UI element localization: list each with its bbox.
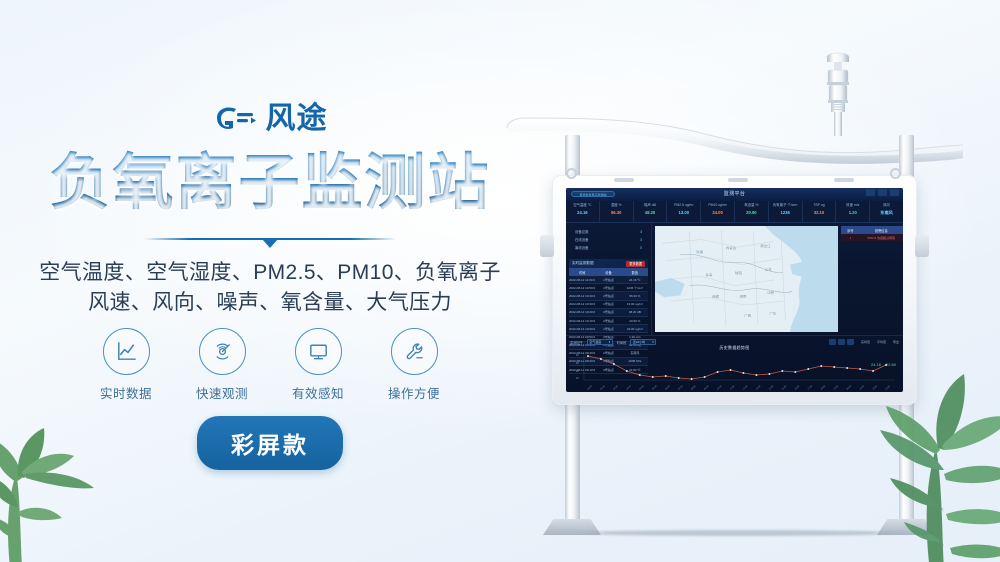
metric-value: 56.30 [600,210,633,215]
g-arrow-logo-icon [213,104,257,134]
svg-text:广西: 广西 [744,313,751,318]
metric-label: 氧含量 % [735,203,768,207]
stat-value: 0 [640,246,642,250]
cell-device: 2号站点 [595,294,621,298]
data-table-header: 实时监测数据 更多数据 [569,259,648,268]
metric-card[interactable]: PM10 ug/m³ 24.00 [701,201,735,222]
cell-time: 2022-08-12 10:30:00 [569,302,595,306]
divider-triangle-icon [262,239,278,248]
svg-text:山东: 山东 [765,267,772,272]
chevron-down-icon: ▾ [652,340,654,344]
svg-text:09:00: 09:00 [704,385,710,391]
dashboard-body: 设备总数 3 在线设备 3 离线设备 0 [566,223,903,335]
metric-label: PM10 ug/m³ [701,203,734,207]
metric-value: 1.20 [836,210,869,215]
page-title: 负氧离子监测站 [0,150,540,214]
column-header: 时间 [569,270,595,275]
foliage-left [0,378,160,562]
cell-device: 1号站点 [595,327,621,331]
metric-card[interactable]: PM2.5 ug/m³ 13.00 [667,201,701,222]
period-filter-label: 时间段 [617,340,627,345]
brand-name: 风途 [266,104,328,134]
china-map-panel[interactable]: 新疆 内蒙古 黑龙江 青海 陕西 山东 西藏 湖南 江西 广西 广东 [655,226,838,332]
alarm-row[interactable]: 1 PM2.5 浓度超过阈值 [841,234,903,241]
svg-text:04:00: 04:00 [639,385,645,391]
svg-text:内蒙古: 内蒙古 [726,245,736,250]
svg-text:03:00: 03:00 [626,385,632,391]
svg-text:00:00: 00:00 [587,385,593,391]
svg-text:11:00: 11:00 [730,385,736,391]
cell-value: 24.16 ℃ [622,278,648,282]
vent-tab [834,178,854,182]
feature-label: 有效感知 [287,383,349,402]
metric-value: 20.90 [735,210,768,215]
column-header: 报警信息 [860,228,903,233]
vent-tab [728,178,748,182]
metric-card[interactable]: 湿度 % 56.30 [600,201,634,222]
cell-time: 2022-08-12 10:20:00 [569,310,595,314]
stat-value: 3 [640,230,642,234]
wrench-icon [391,328,438,375]
vent-tab [614,178,634,182]
metric-label: PM2.5 ug/m³ [667,203,700,207]
metric-card[interactable]: 风向 东南风 [870,201,903,222]
feature-item-effective-sensing: 有效感知 [287,328,349,402]
model-badge[interactable]: 彩屏款 [197,416,343,470]
metric-value: 1236 [769,210,802,215]
cell-device: 1号站点 [595,286,621,290]
foliage-right [814,322,1000,562]
metric-value: 东南风 [870,210,903,216]
svg-text:14:00: 14:00 [769,385,775,391]
svg-text:01:00: 01:00 [600,385,606,391]
metric-card[interactable]: 风速 m/s 1.20 [836,201,870,222]
radar-signal-icon [199,328,246,375]
side-mount-bracket-right [915,235,929,257]
svg-text:15:00: 15:00 [782,385,788,391]
monitor-icon [295,328,342,375]
svg-text:05:00: 05:00 [652,385,658,391]
alarm-panel: 序号 报警信息 1 PM2.5 浓度超过阈值 [841,223,903,335]
table-row[interactable]: 2022-08-12 10:00:00 1号站点 24.00 ug/m³ [569,325,648,333]
svg-text:12:00: 12:00 [743,385,749,391]
metric-card[interactable]: 噪声 dB 48.20 [634,201,668,222]
cell-time: 2022-08-12 10:50:00 [569,286,595,290]
hero-subtitle: 空气温度、空气湿度、PM2.5、PM10、负氧离子 风速、风向、噪声、氧含量、大… [0,258,540,318]
stat-row: 设备总数 3 [575,229,642,234]
metric-card[interactable]: 负氧离子 个/cm³ 1236 [769,201,803,222]
table-row[interactable]: 2022-08-12 10:50:00 1号站点 1236 个/cm³ [569,284,648,292]
alarm-message: PM2.5 浓度超过阈值 [860,236,903,240]
metric-card[interactable]: 氧含量 % 20.90 [735,201,769,222]
data-table-title: 实时监测数据 [572,261,594,266]
factor-select-value: 空气温度 [589,340,601,344]
cell-value: 13.00 ug/m³ [622,302,648,306]
line-chart-icon [103,328,150,375]
metric-label: 风速 m/s [836,203,869,207]
alarm-table-header: 序号 报警信息 [841,226,903,234]
stat-row: 在线设备 3 [575,237,642,242]
svg-text:02:00: 02:00 [613,385,619,391]
metric-value: 13.00 [667,210,700,215]
metric-label: 噪声 dB [634,203,667,207]
metric-label: 风向 [870,203,903,207]
cell-value: 24.00 ug/m³ [622,327,648,331]
metric-label: 负氧离子 个/cm³ [769,203,802,207]
stat-label: 在线设备 [575,237,589,242]
left-panel: 设备总数 3 在线设备 3 离线设备 0 [566,223,652,335]
cell-value: 1236 个/cm³ [622,286,648,290]
cell-value: 56.30 % [622,294,648,298]
cell-time: 2022-08-12 10:10:00 [569,319,595,323]
cell-value: 48.20 dB [622,310,648,314]
stat-label: 离线设备 [575,245,589,250]
dashboard-title: 监测平台 [566,190,903,197]
metric-label: 湿度 % [600,203,633,207]
metric-card[interactable]: TSP ug 32.10 [803,201,837,222]
svg-text:湖南: 湖南 [740,294,747,299]
table-row[interactable]: 2022-08-12 11:00:00 1号站点 24.16 ℃ [569,276,648,284]
svg-text:13:00: 13:00 [756,385,762,391]
svg-text:08:00: 08:00 [691,385,697,391]
hanger-hook-left-icon [566,168,577,179]
svg-text:40: 40 [576,354,579,357]
period-select-value: 近24小时 [633,340,645,344]
cell-device: 3号站点 [595,310,621,314]
factor-filter-label: 监测因子 [570,340,583,345]
cell-device: 2号站点 [595,319,621,323]
metric-value: 24.16 [566,210,599,215]
column-header: 数值 [622,270,648,275]
chevron-down-icon: ▾ [609,340,611,344]
svg-text:西藏: 西藏 [712,294,720,299]
feature-label: 操作方便 [383,383,445,402]
table-row[interactable]: 2022-08-12 10:30:00 1号站点 13.00 ug/m³ [569,301,648,309]
svg-text:江西: 江西 [767,290,774,295]
column-header: 设备 [595,270,621,275]
feature-item-fast-observation: 快速观测 [191,328,253,402]
svg-text:新疆: 新疆 [696,249,704,254]
svg-text:06:00: 06:00 [665,385,671,391]
header-actions[interactable] [866,189,899,196]
more-data-button[interactable]: 更多数据 [626,261,645,267]
svg-text:青海: 青海 [705,272,713,277]
svg-text:17:00: 17:00 [808,385,814,391]
svg-text:07:00: 07:00 [678,385,684,391]
metric-value: 24.00 [701,210,734,215]
header-action-icon[interactable] [878,189,887,196]
metric-value: 48.20 [634,210,667,215]
header-action-icon[interactable] [866,189,875,196]
cell-time: 2022-08-12 10:40:00 [569,294,595,298]
metric-card[interactable]: 空气温度 ℃ 24.16 [566,201,600,222]
subtitle-line-1: 空气温度、空气湿度、PM2.5、PM10、负氧离子 [0,258,540,288]
cell-time: 2022-08-12 10:00:00 [569,327,595,331]
data-table-columns: 时间 设备 数值 [569,268,648,276]
header-action-icon[interactable] [890,189,899,196]
metric-label: TSP ug [803,203,836,207]
title-divider [0,234,540,250]
svg-text:16:00: 16:00 [795,385,801,391]
subtitle-line-2: 风速、风向、噪声、氧含量、大气压力 [0,288,540,318]
table-row[interactable]: 2022-08-12 10:20:00 3号站点 48.20 dB [569,309,648,317]
metric-value: 32.10 [803,210,836,215]
feature-label: 快速观测 [191,383,253,402]
table-row[interactable]: 2022-08-12 10:40:00 2号站点 56.30 % [569,292,648,300]
cell-device: 1号站点 [595,302,621,306]
svg-text:陕西: 陕西 [735,271,742,276]
cell-device: 1号站点 [595,278,621,282]
side-mount-bracket-left [540,235,554,257]
svg-text:10:00: 10:00 [717,385,723,391]
column-header: 序号 [841,228,860,233]
alarm-index: 1 [841,236,860,240]
metric-card-row: 空气温度 ℃ 24.16 湿度 % 56.30 噪声 dB 48.20 PM2.… [566,201,903,223]
svg-text:20: 20 [576,370,579,373]
table-row[interactable]: 2022-08-12 10:10:00 2号站点 20.90 % [569,317,648,325]
stat-label: 设备总数 [575,229,589,234]
stat-row: 离线设备 0 [575,245,642,250]
metric-label: 空气温度 ℃ [566,203,599,207]
svg-text:黑龙江: 黑龙江 [760,244,771,249]
svg-text:广东: 广东 [769,311,776,316]
svg-text:10: 10 [576,377,579,380]
promo-banner: 风途 负氧离子监测站 空气温度、空气湿度、PM2.5、PM10、负氧离子 风速、… [0,0,1000,562]
cell-value: 20.90 % [622,319,648,323]
device-stats: 设备总数 3 在线设备 3 离线设备 0 [569,226,648,257]
dashboard-header: 风途负氧离子监测站 监测平台 [566,188,903,201]
stat-value: 3 [640,238,642,242]
svg-text:30: 30 [576,362,579,365]
feature-item-easy-operation: 操作方便 [383,328,445,402]
hanger-hook-right-icon [890,168,901,179]
brand-logo: 风途 [0,104,540,134]
cell-time: 2022-08-12 11:00:00 [569,278,595,282]
